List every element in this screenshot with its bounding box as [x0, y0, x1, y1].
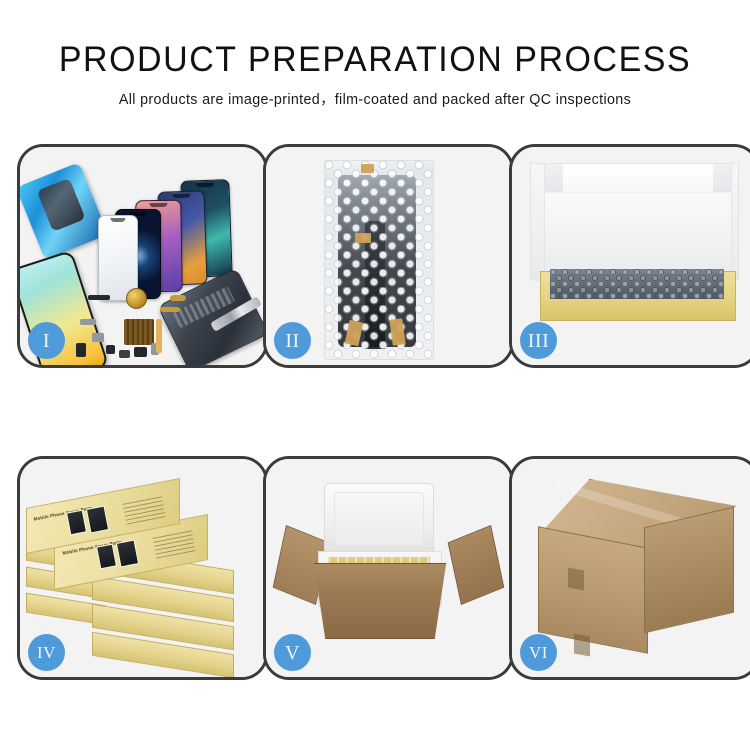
step-panel-1[interactable]: I	[17, 144, 268, 368]
step-badge-3: III	[520, 322, 557, 359]
inner-box-lid	[544, 163, 732, 277]
part-bracket-b	[106, 345, 115, 354]
tape-piece-top	[361, 164, 374, 173]
phone-notch-icon	[149, 203, 167, 207]
page-subtitle: All products are image-printed，film-coat…	[0, 79, 750, 109]
part-bracket-a	[92, 333, 104, 342]
shipping-carton-front	[538, 526, 648, 653]
part-flex-connector-b	[160, 307, 180, 312]
step-badge-6: VI	[520, 634, 557, 671]
step-panel-5[interactable]: V	[263, 456, 514, 680]
tape-piece-mid	[355, 233, 371, 243]
step-badge-4: IV	[28, 634, 65, 671]
carton-body	[308, 563, 452, 639]
blue-adhesive-film	[17, 162, 108, 260]
phone-notch-icon	[196, 183, 215, 188]
step-panel-2[interactable]: II	[263, 144, 514, 368]
phone-notch-icon	[110, 218, 125, 222]
bubble-texture-overlay	[325, 161, 433, 359]
shipping-carton-side	[644, 507, 734, 634]
part-flex-connector-a	[170, 295, 186, 301]
page-title: PRODUCT PREPARATION PROCESS	[11, 0, 739, 79]
styrofoam-lid	[324, 483, 434, 555]
shipping-carton-handle-tab-bottom	[574, 633, 590, 656]
shipping-carton-handle-tab-top	[568, 567, 584, 590]
inner-box-lid-top-edge	[545, 164, 731, 193]
step-panel-3[interactable]: III	[509, 144, 750, 368]
step-panel-6[interactable]: VI	[509, 456, 750, 680]
page-header: PRODUCT PREPARATION PROCESS All products…	[0, 0, 750, 109]
phone-notch-icon	[172, 194, 190, 199]
part-speaker-coil	[126, 288, 147, 309]
bubble-bags-in-box	[550, 269, 724, 299]
bubble-wrap-bag	[324, 160, 434, 360]
process-step-grid: I II III	[17, 144, 736, 680]
part-screw-strip	[80, 319, 96, 325]
step-badge-2: II	[274, 322, 311, 359]
part-earpiece	[88, 295, 110, 300]
part-camera-module	[134, 347, 147, 357]
part-chip-array	[124, 319, 154, 345]
carton-flap-right	[448, 525, 505, 605]
part-vibrator	[76, 343, 86, 357]
part-bracket-c	[119, 350, 130, 358]
step-badge-1: I	[28, 322, 65, 359]
step-badge-5: V	[274, 634, 311, 671]
step-panel-4[interactable]: Mobile Phone Spare Parts Mobile Phone Sp…	[17, 456, 268, 680]
part-flex-cable	[156, 319, 162, 353]
